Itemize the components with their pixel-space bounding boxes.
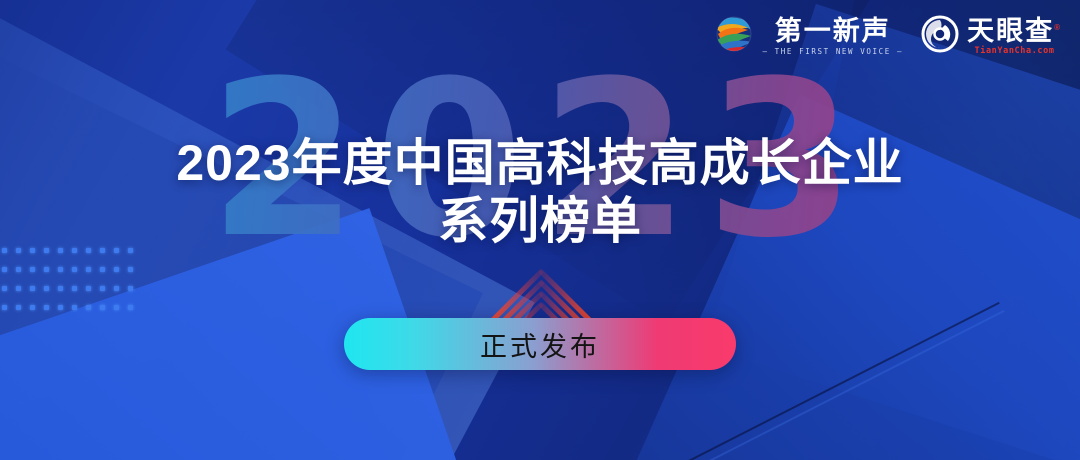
title-line-2: 系列榜单 (0, 192, 1080, 250)
background-facet-right-dark (750, 0, 1080, 460)
dot-grid-decoration (2, 248, 142, 324)
grid-dot (44, 248, 49, 253)
poster-title: 2023年度中国高科技高成长企业 系列榜单 (0, 134, 1080, 250)
grid-dot (16, 248, 21, 253)
grid-dot (86, 286, 91, 291)
grid-dot (100, 267, 105, 272)
grid-dot (72, 267, 77, 272)
logo-diyixinsheng-tagline: — THE FIRST NEW VOICE — (762, 47, 903, 56)
grid-dot (58, 248, 63, 253)
grid-dot (72, 248, 77, 253)
grid-dot (100, 305, 105, 310)
grid-dot (58, 286, 63, 291)
grid-dot (2, 305, 7, 310)
grid-dot (114, 286, 119, 291)
header-logos: 第一新声 — THE FIRST NEW VOICE — 天眼查® TianYa… (714, 14, 1062, 59)
release-badge[interactable]: 正式发布 (344, 318, 736, 370)
logo-diyixinsheng-text: 第一新声 — THE FIRST NEW VOICE — (762, 17, 903, 56)
grid-dot (58, 267, 63, 272)
grid-dot (114, 267, 119, 272)
grid-dot (128, 305, 133, 310)
grid-dot (30, 286, 35, 291)
logo-tianyancha-text: 天眼查® TianYanCha.com (967, 17, 1062, 56)
grid-dot (128, 248, 133, 253)
grid-dot (30, 248, 35, 253)
grid-dot (128, 267, 133, 272)
grid-dot (86, 305, 91, 310)
grid-dot (100, 248, 105, 253)
background-facet-bottom-right-2 (705, 4, 1080, 460)
logo-diyixinsheng[interactable]: 第一新声 — THE FIRST NEW VOICE — (714, 14, 903, 59)
logo-tianyancha-name: 天眼查® (967, 17, 1062, 45)
logo-diyixinsheng-name: 第一新声 (775, 17, 891, 45)
grid-dot (16, 286, 21, 291)
background-facet-top-left-2 (0, 0, 483, 460)
grid-dot (2, 286, 7, 291)
poster-canvas: 2023 (0, 0, 1080, 460)
grid-dot (2, 267, 7, 272)
grid-dot (16, 305, 21, 310)
grid-dot (128, 286, 133, 291)
grid-dot (16, 267, 21, 272)
grid-dot (100, 286, 105, 291)
grid-dot (30, 267, 35, 272)
grid-dot (86, 248, 91, 253)
camera-aperture-logo-icon (921, 15, 959, 58)
swirl-globe-logo-icon (714, 14, 754, 59)
grid-dot (114, 305, 119, 310)
background-facet-bottom-right (629, 94, 1080, 460)
grid-dot (72, 305, 77, 310)
grid-dot (114, 248, 119, 253)
grid-dot (58, 305, 63, 310)
grid-dot (44, 267, 49, 272)
grid-dot (86, 267, 91, 272)
title-line-1: 2023年度中国高科技高成长企业 (0, 134, 1080, 192)
grid-dot (72, 286, 77, 291)
grid-dot (44, 305, 49, 310)
logo-tianyancha-tagline: TianYanCha.com (975, 46, 1055, 56)
release-badge-label: 正式发布 (480, 325, 600, 364)
logo-tianyancha[interactable]: 天眼查® TianYanCha.com (921, 15, 1062, 58)
grid-dot (44, 286, 49, 291)
grid-dot (2, 248, 7, 253)
background-facet-top-left (0, 0, 535, 460)
registered-trademark-icon: ® (1054, 23, 1062, 32)
grid-dot (30, 305, 35, 310)
year-watermark: 2023 (0, 52, 1080, 267)
